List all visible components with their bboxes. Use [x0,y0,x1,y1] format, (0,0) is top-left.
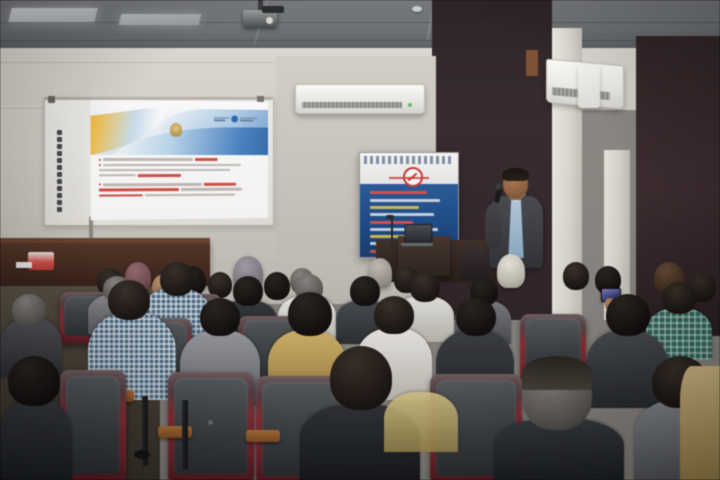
banner-line [370,213,435,216]
ac-column-unit [578,66,600,108]
audience-head [160,262,194,296]
logo-text-lines [214,117,230,121]
seat-armrest[interactable] [246,430,280,442]
audience-head [330,346,392,410]
marker-tray [57,130,62,212]
audience-shoulders [384,392,458,452]
audience-head [12,294,46,326]
presenter-arm [485,204,501,248]
logo-line [240,120,254,122]
microphone-stand [391,218,393,246]
logo-text-lines [240,117,257,121]
slide-text-run [103,158,192,161]
logo-line [214,117,230,119]
slide-text-line [99,158,262,161]
microphone-head-icon [495,183,502,190]
audience-head [456,298,496,336]
slide-text-run [181,188,242,191]
audience-head-hijab [497,254,525,288]
slide-body-text [91,155,268,220]
audience-head [410,272,440,302]
audience-head [200,298,240,336]
audience-head [350,276,380,306]
slide-text-run [144,193,235,196]
presenter-hair [502,168,529,181]
whiteboard-clip [48,96,55,103]
slide-text-run [103,183,202,186]
banner-line [370,199,441,202]
ac-pipe [292,74,428,77]
audience-head [288,292,332,336]
ceiling-seam [0,22,720,23]
logo-line [214,119,226,121]
slide-header-graphic [91,100,268,156]
ceiling [0,0,720,52]
ac-led-icon [408,103,412,107]
slide-text-run [99,169,231,172]
audience-hair [522,356,592,390]
marker-icon [57,193,62,198]
marker-icon [57,172,62,177]
marker-icon [57,137,62,142]
banner-line [370,191,427,194]
bullet-icon [99,159,101,161]
projector-lens [266,17,273,24]
audience-head [563,262,589,290]
logo-mark-icon [232,116,239,123]
marker-icon [57,207,62,212]
smoke-detector [412,6,422,12]
ceiling-seam [0,40,720,41]
slide-text-run [103,164,241,167]
auditorium-seat-cushion[interactable] [66,376,120,474]
banner-header-text [364,156,454,164]
marker-icon [57,179,62,184]
marker-icon [57,165,62,170]
audience-head [374,296,414,334]
podium-microphone-icon [386,215,394,219]
audience-shoulders [0,398,72,480]
slide-text-run [99,174,136,177]
banner-header [360,153,458,184]
banner-line [370,206,419,209]
marker-icon [57,151,62,156]
paper-sheet [16,262,32,268]
bullet-icon [99,164,101,166]
projector-cables [262,6,284,13]
audience-head [8,356,60,406]
slide-text-highlight [99,188,179,191]
slide-text-line [99,163,262,166]
marker-icon [57,144,62,149]
audience-head [108,280,150,320]
slide-text-highlight [99,194,143,197]
wall-bracket [526,50,538,76]
slide-text-line [99,169,262,172]
audience-head [264,272,290,300]
audience-head [606,294,650,336]
slide-text-highlight [204,183,236,186]
slide-text-line [99,183,262,187]
ac-vent [302,102,402,108]
slide-text-highlight [194,158,217,161]
air-conditioner-back-wall [295,84,425,114]
seat-rivet [208,420,213,425]
whiteboard-frame [44,97,272,100]
projection-screen [91,100,268,220]
banner-red-bar [389,177,428,179]
slide-text-line [99,174,262,177]
front-desk-edge [0,238,210,243]
lecture-hall-photo [0,0,720,480]
marker-icon [57,200,62,205]
slide-emblem-icon [170,123,182,137]
fluorescent-light-panel [8,8,97,22]
marker-icon [57,130,62,135]
slide-text-highlight [138,174,181,177]
marker-icon [57,186,62,191]
seat-base-foot [134,450,150,459]
audience-head [662,282,696,314]
audience-shoulders [680,366,720,480]
seated-person-near-podium [460,246,490,280]
laptop-base [401,243,433,246]
slide-text-line [99,193,262,197]
logo-line [240,117,257,119]
audience-head [233,276,263,306]
fluorescent-light-panel [119,14,202,25]
slide-text-line [99,188,262,192]
bullet-icon [99,184,101,186]
organization-logo [214,115,258,122]
seat-leg [182,400,188,470]
marker-icon [57,158,62,163]
